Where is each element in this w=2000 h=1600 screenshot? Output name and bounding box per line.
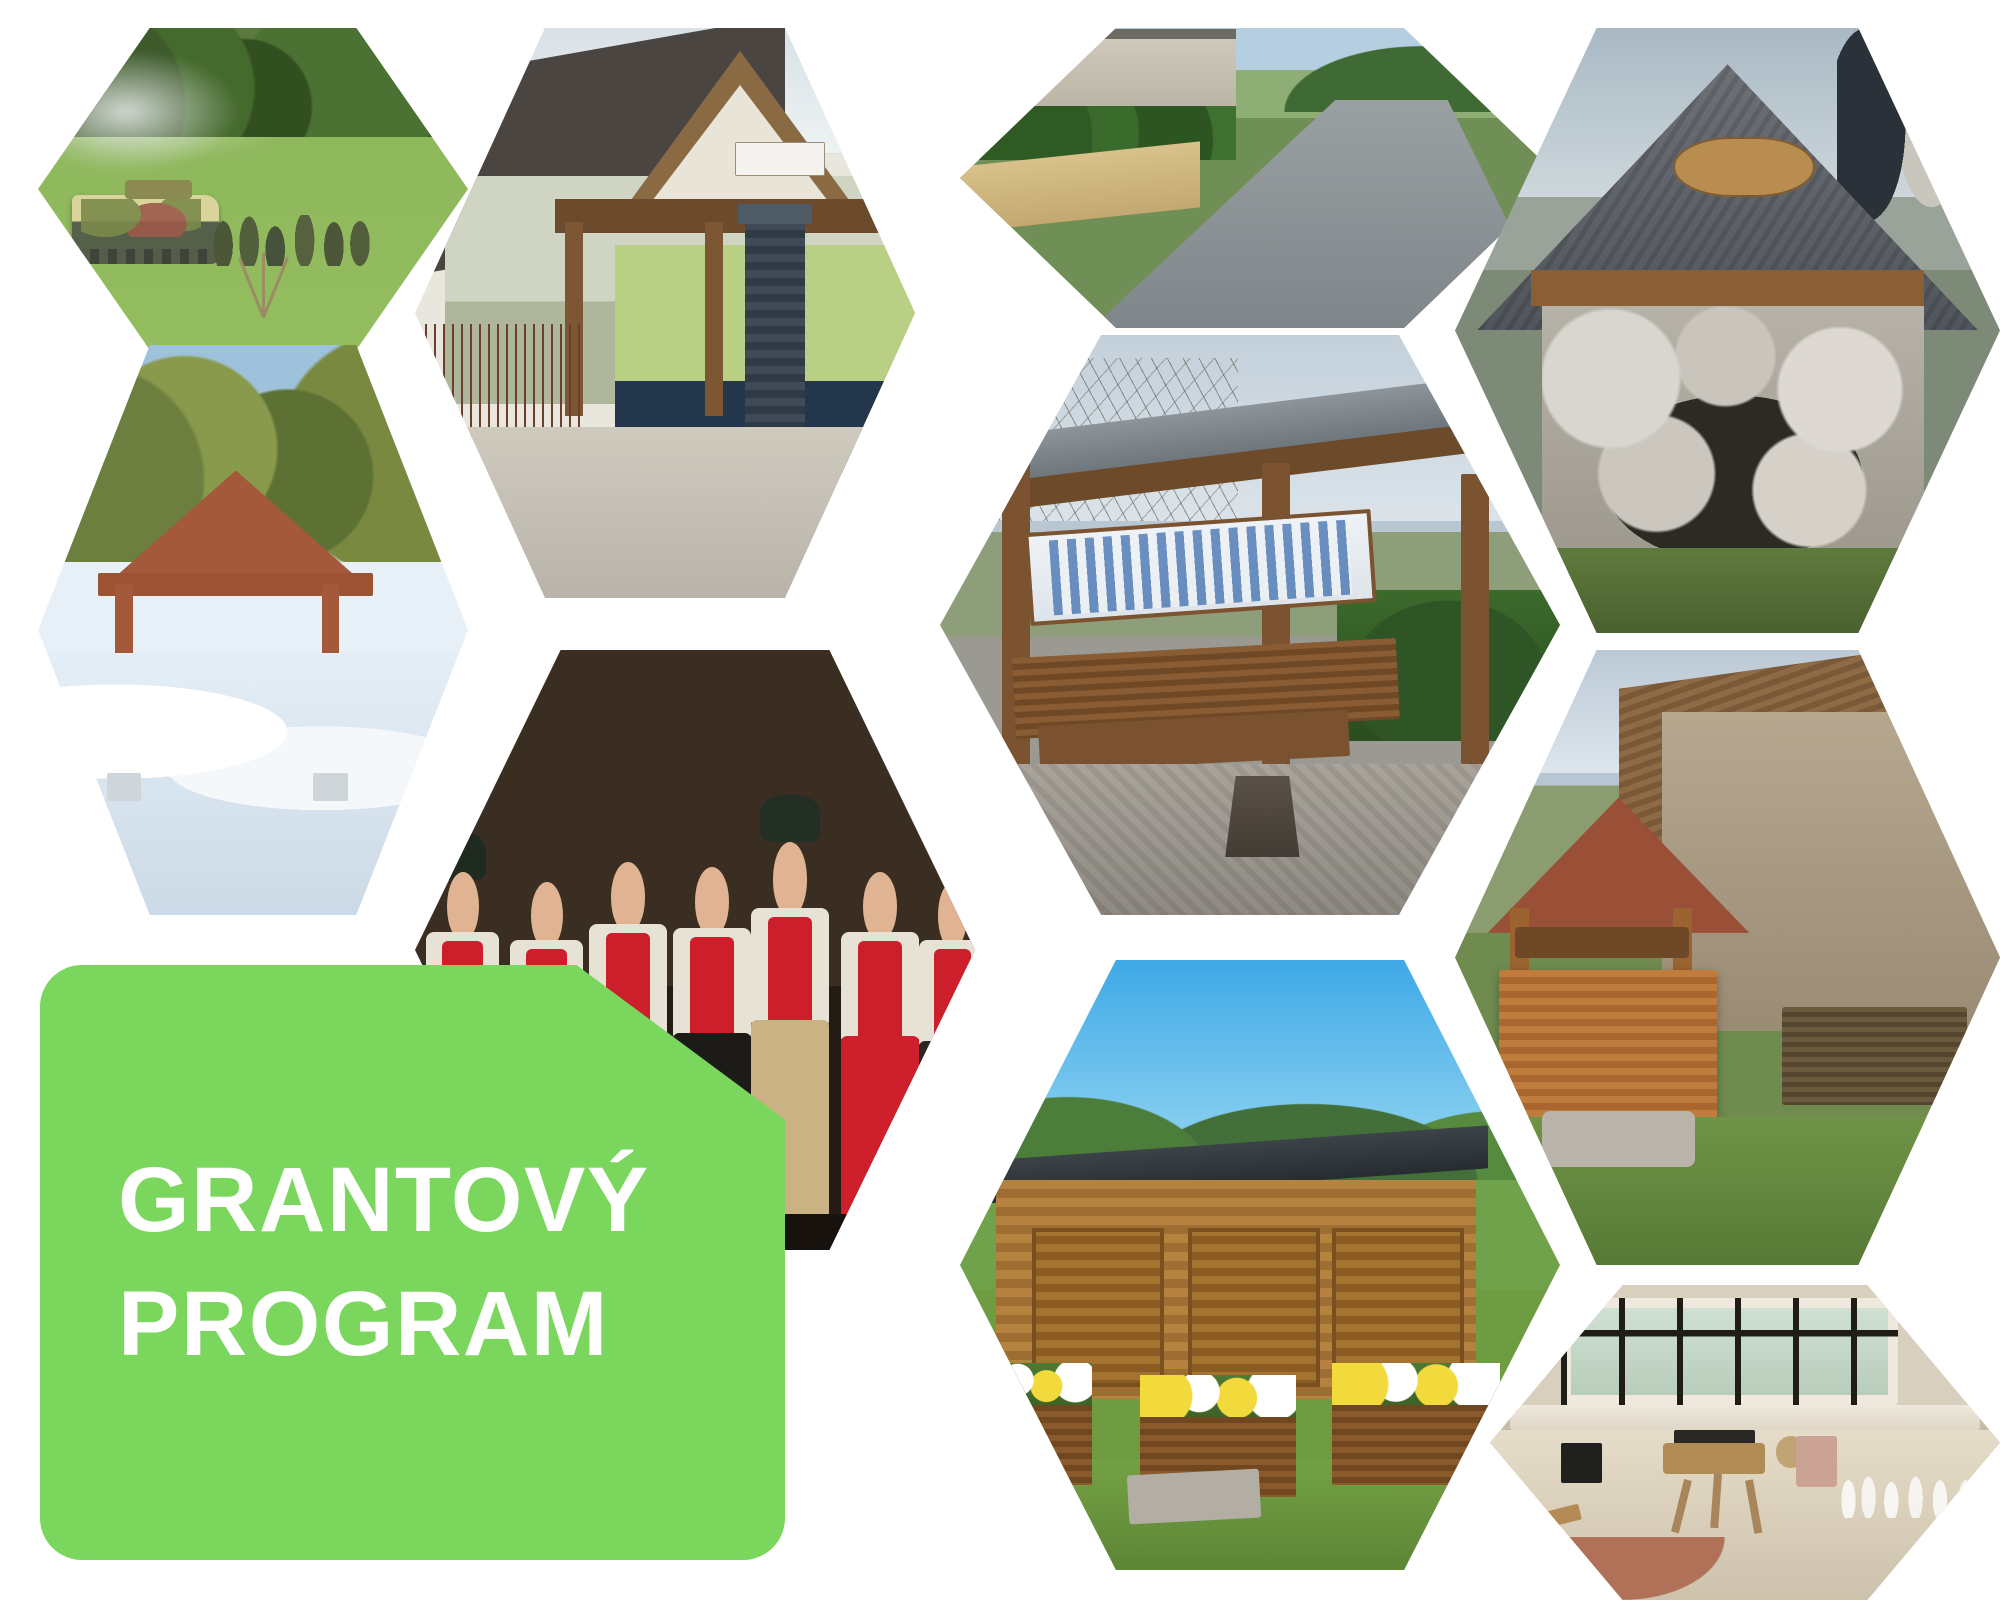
information-board — [1024, 509, 1377, 626]
photo-museum-window — [1490, 1285, 2000, 1600]
photo-village-porch — [415, 28, 915, 598]
photo-village-road — [960, 28, 1560, 328]
photo-wooden-cabin — [960, 960, 1560, 1570]
photo-tile-wooden-cabin[interactable] — [960, 960, 1560, 1570]
banner-title-line-1: GRANTOVÝ — [118, 1139, 785, 1262]
banner-title-line-2: PROGRAM — [118, 1263, 785, 1386]
porch-sign — [735, 142, 825, 176]
photo-tile-village-porch[interactable] — [415, 28, 915, 598]
photo-info-shelter — [940, 335, 1560, 915]
grant-program-banner: GRANTOVÝ PROGRAM — [40, 965, 785, 1560]
photo-tile-info-shelter[interactable] — [940, 335, 1560, 915]
photo-tile-village-well[interactable] — [1455, 650, 2000, 1265]
photo-tile-military-reenactment[interactable] — [38, 28, 468, 350]
photo-tile-village-road[interactable] — [960, 28, 1560, 328]
photo-tile-snow-pergola[interactable] — [38, 345, 468, 915]
photo-tile-museum-window[interactable] — [1490, 1285, 2000, 1600]
photo-military-reenactment — [38, 28, 468, 350]
photo-tile-stone-spring[interactable] — [1455, 28, 2000, 633]
poster-canvas: GRANTOVÝ PROGRAM — [0, 0, 2000, 1600]
photo-village-well — [1455, 650, 2000, 1265]
photo-snow-pergola — [38, 345, 468, 915]
spring-plaque — [1673, 137, 1815, 198]
photo-stone-spring — [1455, 28, 2000, 633]
